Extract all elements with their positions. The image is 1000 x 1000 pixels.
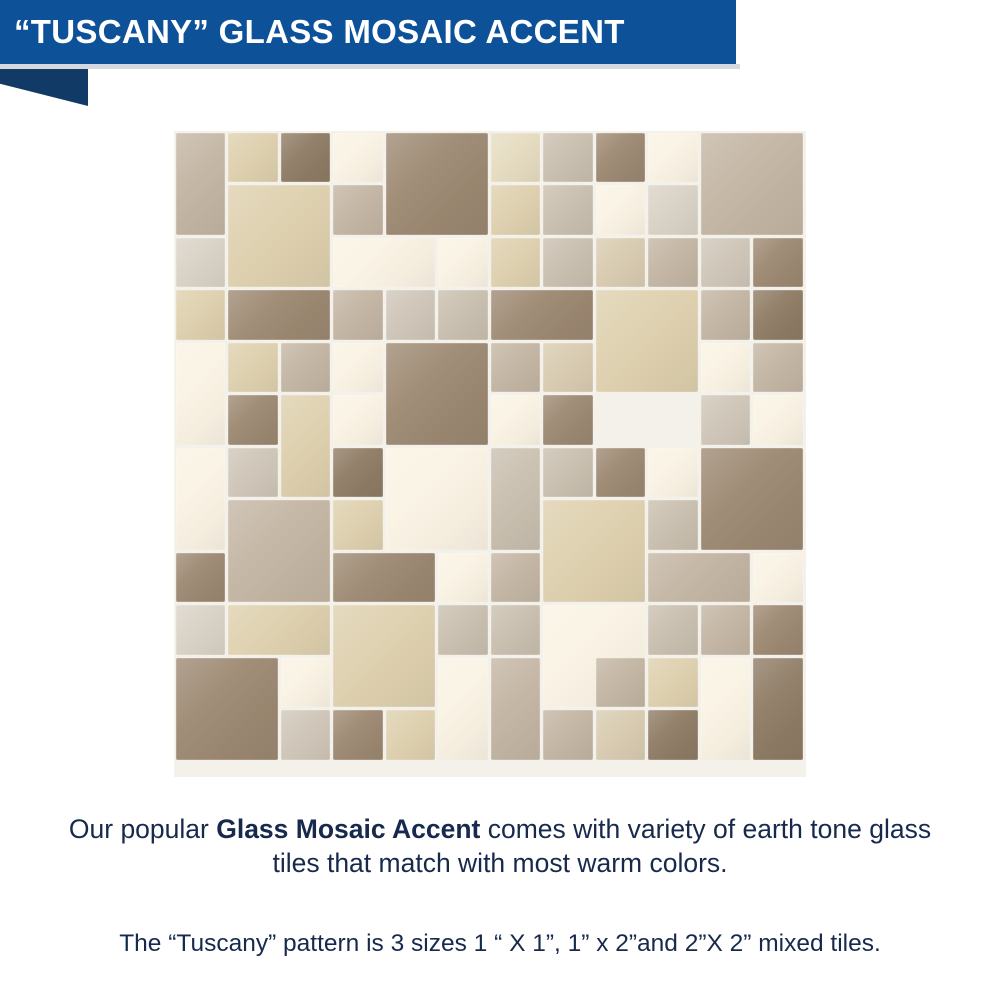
mosaic-tile: [281, 343, 331, 393]
mosaic-tile: [333, 238, 435, 288]
mosaic-tile: [543, 133, 593, 183]
mosaic-tile: [753, 658, 803, 760]
mosaic-tile: [333, 395, 383, 445]
mosaic-tile: [543, 185, 593, 235]
mosaic-tile: [333, 133, 383, 183]
mosaic-tile: [333, 710, 383, 760]
mosaic-tile: [648, 500, 698, 550]
mosaic-tile: [228, 290, 330, 340]
mosaic-tile: [596, 133, 646, 183]
mosaic-tile: [543, 500, 645, 602]
mosaic-tile: [176, 133, 226, 235]
mosaic-tile: [648, 238, 698, 288]
mosaic-tile: [753, 395, 803, 445]
mosaic-tile: [491, 343, 541, 393]
mosaic-tile: [648, 133, 698, 183]
mosaic-tile: [333, 185, 383, 235]
mosaic-tile: [701, 133, 803, 235]
mosaic-tile: [333, 290, 383, 340]
mosaic-tile: [596, 710, 646, 760]
banner-shadow-strip: [0, 64, 740, 69]
mosaic-tile: [753, 553, 803, 603]
mosaic-tile: [333, 448, 383, 498]
caption-primary-accent: Glass Mosaic Accent: [216, 814, 480, 844]
caption-secondary: The “Tuscany” pattern is 3 sizes 1 “ X 1…: [40, 928, 960, 960]
mosaic-tile: [228, 185, 330, 287]
mosaic-tile: [491, 448, 541, 550]
mosaic-tile: [648, 553, 750, 603]
mosaic-tile: [438, 553, 488, 603]
mosaic-tile: [438, 238, 488, 288]
mosaic-tile: [176, 658, 278, 760]
mosaic-tile: [543, 448, 593, 498]
mosaic-tile: [281, 395, 331, 497]
mosaic-tile: [543, 343, 593, 393]
mosaic-tile: [701, 605, 751, 655]
mosaic-tile: [333, 500, 383, 550]
mosaic-tile: [176, 343, 226, 445]
mosaic-tile: [491, 290, 593, 340]
mosaic-tile: [281, 710, 331, 760]
mosaic-tile: [438, 658, 488, 760]
mosaic-tile-grid: [174, 131, 806, 777]
mosaic-tile: [491, 133, 541, 183]
mosaic-tile: [491, 658, 541, 760]
header-banner: “TUSCANY” GLASS MOSAIC ACCENT: [0, 0, 736, 64]
mosaic-tile: [753, 343, 803, 393]
mosaic-tile: [543, 395, 593, 445]
mosaic-tile: [701, 448, 803, 550]
mosaic-tile: [438, 290, 488, 340]
mosaic-tile: [176, 448, 226, 550]
mosaic-tile: [648, 658, 698, 708]
mosaic-tile: [491, 185, 541, 235]
mosaic-tile: [753, 238, 803, 288]
page-title: “TUSCANY” GLASS MOSAIC ACCENT: [14, 13, 625, 51]
mosaic-tile: [491, 605, 541, 655]
ribbon-fold-decoration: [0, 69, 88, 106]
mosaic-tile: [176, 553, 226, 603]
mosaic-tile: [228, 500, 330, 602]
mosaic-tile: [228, 395, 278, 445]
mosaic-tile: [176, 605, 226, 655]
mosaic-tile: [491, 238, 541, 288]
mosaic-tile: [753, 605, 803, 655]
mosaic-tile: [648, 448, 698, 498]
mosaic-tile: [333, 553, 435, 603]
mosaic-tile: [333, 343, 383, 393]
mosaic-tile: [438, 605, 488, 655]
mosaic-tile: [701, 343, 751, 393]
mosaic-tile: [648, 185, 698, 235]
mosaic-tile: [333, 605, 435, 707]
mosaic-tile: [596, 658, 646, 708]
mosaic-tile: [281, 658, 331, 708]
caption-primary: Our popular Glass Mosaic Accent comes wi…: [50, 812, 950, 880]
mosaic-tile: [281, 133, 331, 183]
mosaic-tile: [386, 448, 488, 550]
mosaic-tile: [701, 290, 751, 340]
mosaic-tile: [701, 395, 751, 445]
mosaic-tile: [543, 238, 593, 288]
mosaic-tile: [491, 395, 541, 445]
mosaic-tile: [648, 710, 698, 760]
mosaic-tile: [753, 290, 803, 340]
caption-primary-before: Our popular: [69, 814, 216, 844]
mosaic-tile: [596, 238, 646, 288]
mosaic-tile: [596, 290, 698, 392]
mosaic-tile: [701, 658, 751, 760]
mosaic-tile: [228, 448, 278, 498]
mosaic-tile: [701, 238, 751, 288]
mosaic-tile: [386, 710, 436, 760]
mosaic-tile: [386, 343, 488, 445]
mosaic-tile: [543, 710, 593, 760]
mosaic-tile: [596, 185, 646, 235]
mosaic-tile: [491, 553, 541, 603]
mosaic-tile: [228, 133, 278, 183]
mosaic-tile: [228, 343, 278, 393]
mosaic-tile: [176, 238, 226, 288]
mosaic-tile: [228, 605, 330, 655]
mosaic-tile: [386, 290, 436, 340]
mosaic-tile: [176, 290, 226, 340]
mosaic-tile: [386, 133, 488, 235]
mosaic-tile-panel: [174, 131, 806, 777]
mosaic-tile: [648, 605, 698, 655]
mosaic-tile: [596, 448, 646, 498]
